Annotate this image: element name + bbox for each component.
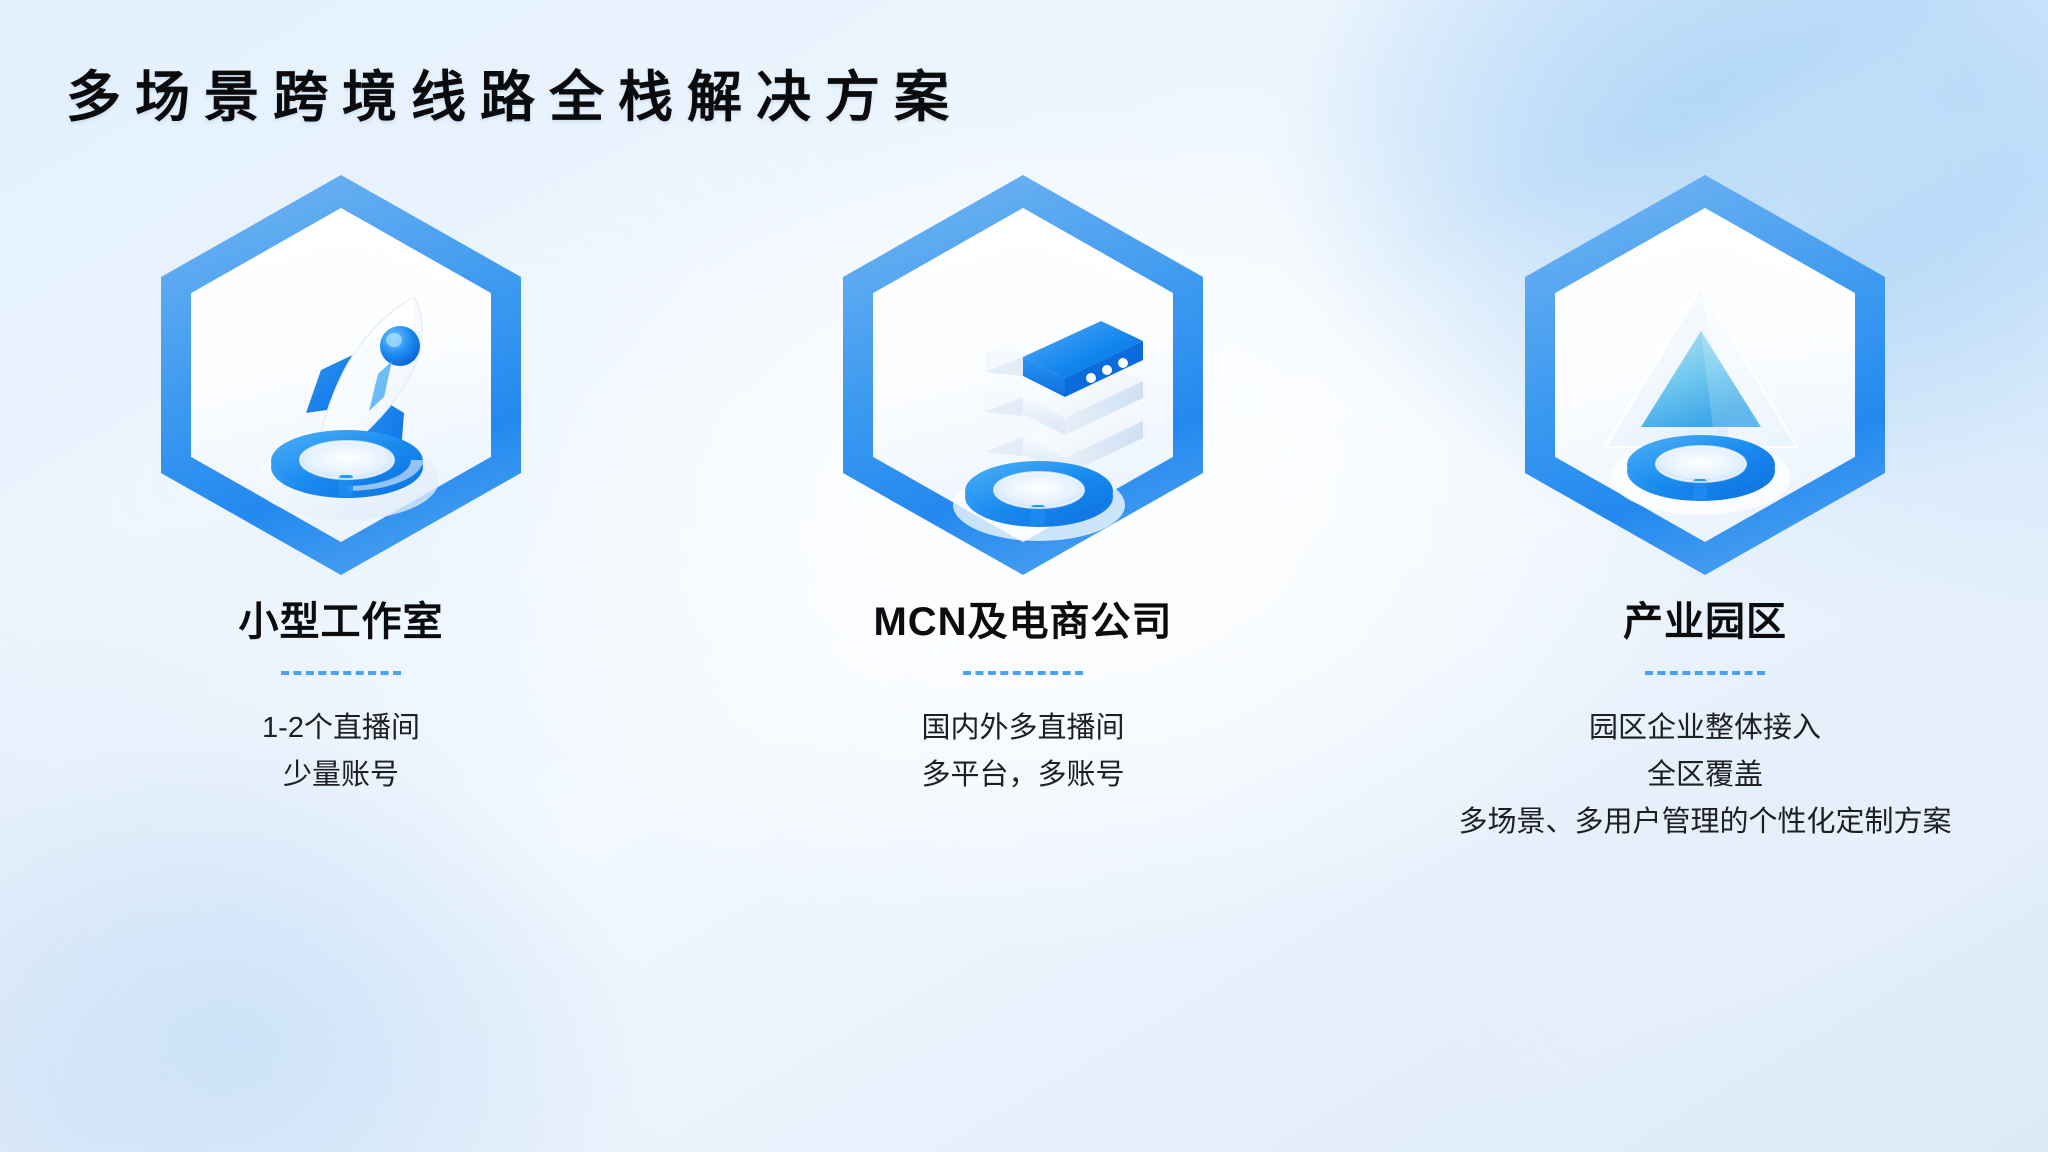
solution-cards-row: 小型工作室 1-2个直播间 少量账号 [0,175,2048,846]
pyramid-icon [1525,175,1885,575]
card-title: 小型工作室 [239,589,444,647]
card-body-line: 多场景、多用户管理的个性化定制方案 [1458,799,1951,846]
hexagon-badge-1 [161,175,521,575]
card-body: 园区企业整体接入 全区覆盖 多场景、多用户管理的个性化定制方案 [1458,705,1951,846]
card-small-studio[interactable]: 小型工作室 1-2个直播间 少量账号 [0,175,682,846]
card-body: 国内外多直播间 多平台，多账号 [921,705,1124,799]
hexagon-badge-3 [1525,175,1885,575]
card-divider [1645,671,1765,675]
card-divider [963,671,1083,675]
card-title: MCN及电商公司 [873,589,1172,647]
card-mcn-ecommerce[interactable]: MCN及电商公司 国内外多直播间 多平台，多账号 [682,175,1364,846]
card-body: 1-2个直播间 少量账号 [262,705,420,799]
card-body-line: 园区企业整体接入 [1458,705,1951,752]
rocket-icon [161,175,521,575]
card-industrial-park[interactable]: 产业园区 园区企业整体接入 全区覆盖 多场景、多用户管理的个性化定制方案 [1364,175,2046,846]
card-body-line: 全区覆盖 [1458,752,1951,799]
card-divider [281,671,401,675]
hexagon-badge-2 [843,175,1203,575]
card-body-line: 多平台，多账号 [921,752,1124,799]
server-stack-icon [843,175,1203,575]
page-title: 多场景跨境线路全栈解决方案 [66,52,963,132]
card-body-line: 少量账号 [262,752,420,799]
card-body-line: 1-2个直播间 [262,705,420,752]
card-body-line: 国内外多直播间 [921,705,1124,752]
page-background: 多场景跨境线路全栈解决方案 [0,0,2048,1152]
card-title: 产业园区 [1623,589,1787,647]
